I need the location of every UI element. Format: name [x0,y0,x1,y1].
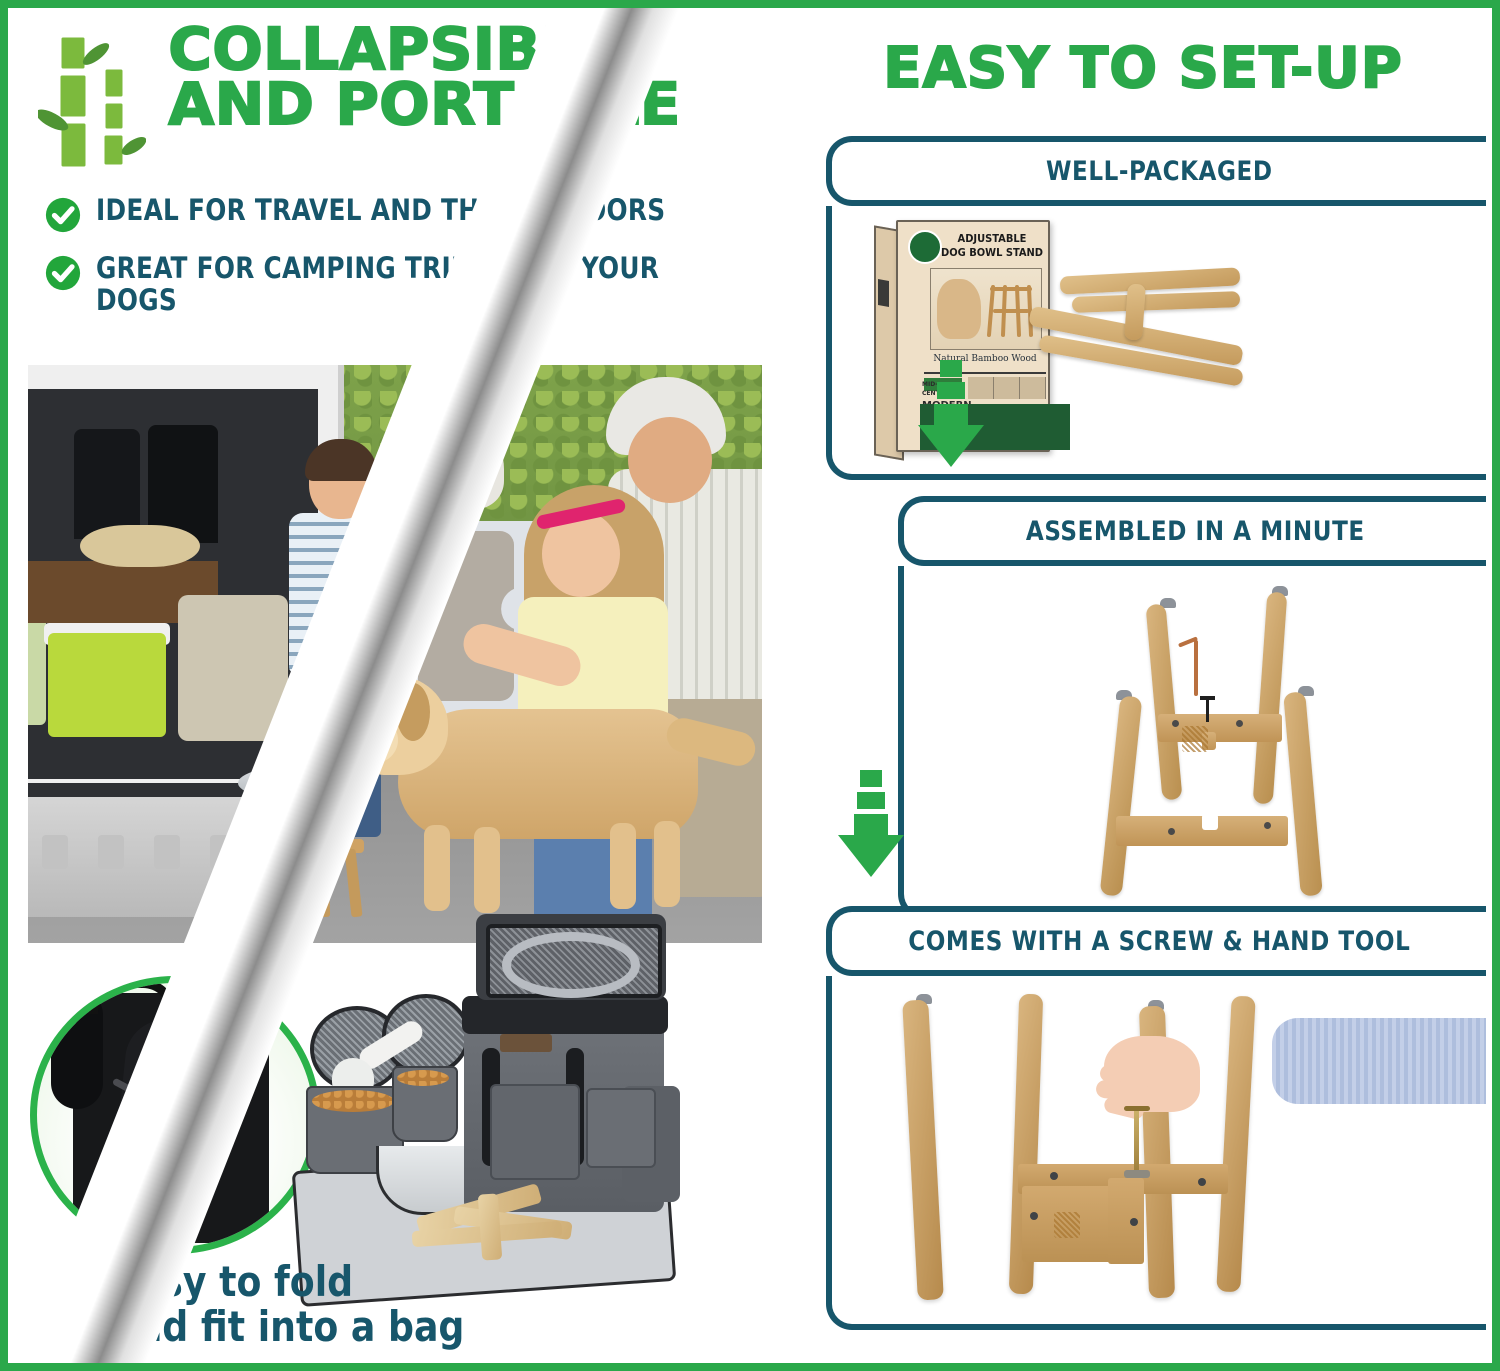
box-stand-illustration [987,283,1033,339]
sweater-sleeve [1272,1018,1486,1104]
step-header: WELL-PACKAGED [826,136,1486,206]
step-body [898,566,1486,920]
step-card-screw-tool: COMES WITH A SCREW & HAND TOOL [826,906,1486,1330]
feature-bullet-list: IDEAL FOR TRAVEL AND THE OUTDOORS GREAT … [44,194,764,335]
check-circle-icon [44,196,82,234]
assembled-stand-art [1054,586,1354,896]
right-panel: EASY TO SET-UP WELL-PACKAGED ADJUSTABLE … [798,8,1500,1363]
box-title-line-1: ADJUSTABLE [940,232,1044,246]
hand-with-tool-art [872,990,1486,1310]
list-item: GREAT FOR CAMPING TRIPS WITH YOUR DOGS [44,252,764,317]
hand-tool [1134,1108,1139,1174]
travel-kit-photo [304,908,704,1308]
eco-badge-icon [908,230,942,264]
right-panel-title: EASY TO SET-UP [798,36,1488,101]
step-header: ASSEMBLED IN A MINUTE [898,496,1486,566]
step-label: COMES WITH A SCREW & HAND TOOL [908,926,1410,957]
list-item: IDEAL FOR TRAVEL AND THE OUTDOORS [44,194,764,234]
step-label: ASSEMBLED IN A MINUTE [1026,516,1365,547]
step-header: COMES WITH A SCREW & HAND TOOL [826,906,1486,976]
step-body [826,976,1486,1330]
box-title-line-2: DOG BOWL STAND [940,246,1044,260]
bullet-text: GREAT FOR CAMPING TRIPS WITH YOUR DOGS [96,252,731,317]
bamboo-icon [38,32,146,182]
headline-line-2: AND PORTABLE [168,77,739,132]
check-circle-icon [44,254,82,292]
down-arrow-icon [918,360,984,467]
down-arrow-icon [838,770,904,877]
step-label: WELL-PACKAGED [1046,156,1273,187]
infographic-canvas: COLLAPSIBLE AND PORTABLE IDEAL FOR TRAVE… [0,0,1500,1371]
step-card-assembled: ASSEMBLED IN A MINUTE [898,496,1486,920]
